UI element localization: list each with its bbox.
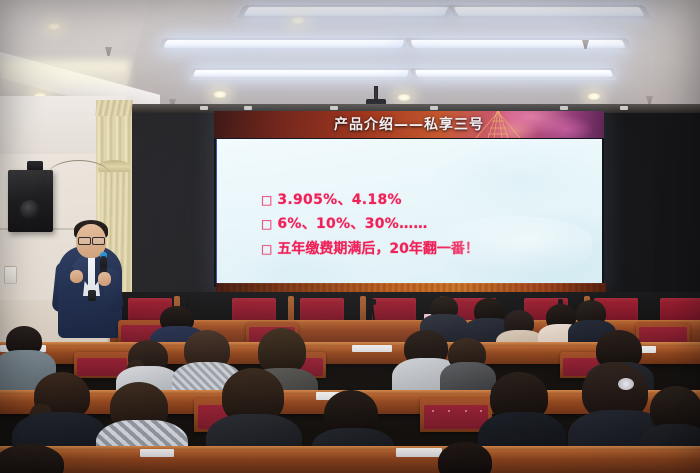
rail-light-4 [430,106,438,110]
light-strip-3b [415,70,613,77]
slide-title: 产品介绍——私享三号 [214,111,604,138]
bullet-square-icon: □ [261,243,272,255]
desk-row-4 [0,450,700,473]
slide-bullet-3-text: 五年缴费期满后，20年翻一番！ [277,242,478,257]
desk-paper-r4-2 [140,449,174,457]
slide-body: □ 3.905%、4.18% □ 6%、10%、30%…… □ 五年缴费期满后，… [216,139,602,284]
light-strip-2 [163,40,405,48]
light-strip-3 [193,70,409,77]
downlight-2 [212,90,228,99]
presenter-right-hand [98,272,111,286]
rail-light-3 [330,106,338,110]
desk-paper-r4-1 [396,448,442,457]
rail-light-6 [620,106,628,110]
rail-light-5 [560,106,568,110]
presentation-hall-photo: 产品介绍——私享三号 □ 3.905%、4.18% □ 6%、10%、30%……… [0,0,700,473]
slide-bullet-2-text: 6%、10%、30%…… [277,217,427,232]
table-mic-head-2 [371,299,376,305]
downlight-6 [290,16,306,25]
slide-bullet-1-text: 3.905%、4.18% [277,193,401,208]
ceiling-cove-light-wash [0,60,130,100]
slide-banner: 产品介绍——私享三号 [214,111,604,138]
curtain-header [95,100,133,116]
light-strip-1b [453,7,644,16]
presenter-glasses-left-lens [78,237,91,245]
slide-bullet-3: □ 五年缴费期满后，20年翻一番！ [261,242,591,257]
presenter-badge [88,290,96,301]
slide-bullet-2: □ 6%、10%、30%…… [261,217,591,232]
projection-screen: 产品介绍——私享三号 □ 3.905%、4.18% □ 6%、10%、30%……… [214,111,604,287]
rail-light-2 [244,106,252,110]
bullet-square-icon: □ [261,218,272,230]
presenter-left-hand [70,270,83,283]
screen-lower-light-strip [216,283,606,292]
presenter-glasses-right-lens [92,237,105,245]
desk-paper-r2-2 [352,345,392,352]
light-strip-2b [410,40,626,48]
rail-light-1 [200,106,208,110]
speaker-cone-icon [20,200,40,220]
slide-bullet-list: □ 3.905%、4.18% □ 6%、10%、30%…… □ 五年缴费期满后，… [261,193,591,266]
downlight-3 [396,93,412,102]
downlight-5 [46,22,62,31]
light-strip-1 [243,7,448,16]
downlight-4 [586,92,602,101]
bullet-square-icon: □ [261,194,272,206]
slide-bullet-1: □ 3.905%、4.18% [261,193,591,208]
hair-clip [618,378,634,390]
light-switch-panel[interactable] [4,266,17,284]
table-mic-head-1 [183,297,188,303]
